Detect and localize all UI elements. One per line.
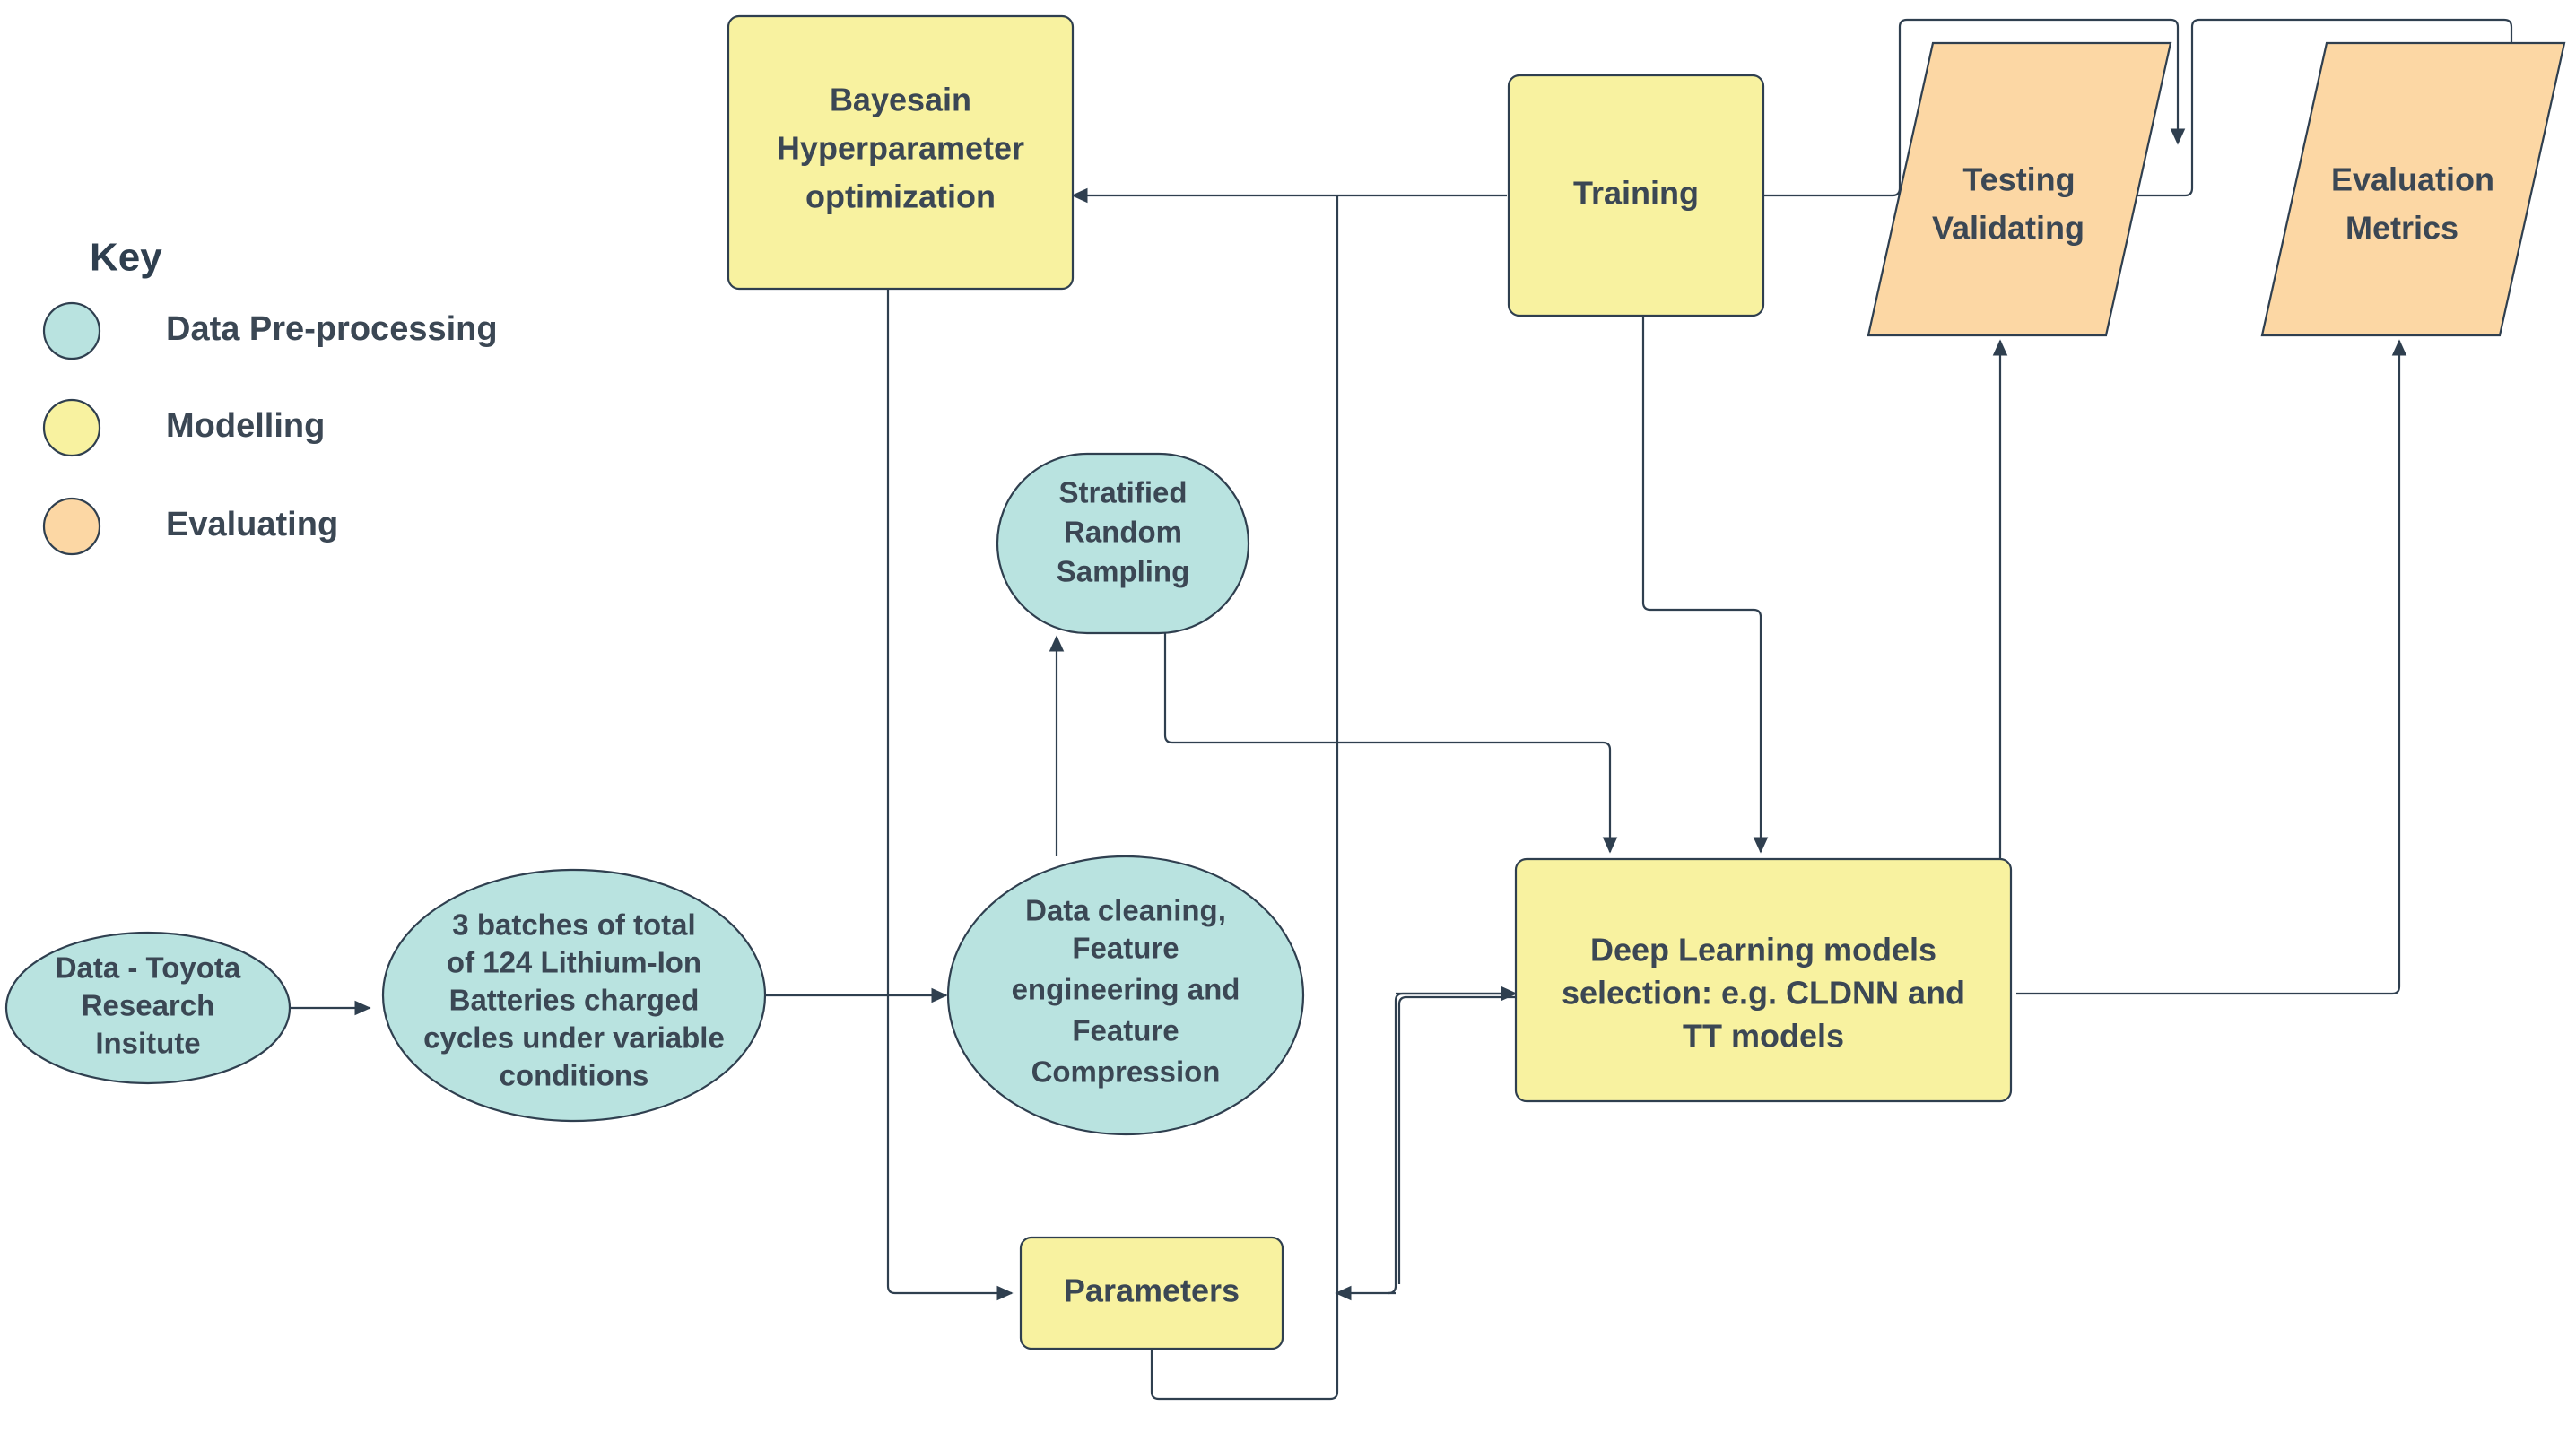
legend-label-modelling: Modelling (166, 407, 325, 445)
edge-deep-learning-back-to-parameters (1336, 994, 1525, 1293)
node-data-cleaning[interactable]: Data cleaning, Feature engineering and F… (948, 856, 1303, 1134)
node-bayesian-line-2: optimization (805, 178, 996, 215)
node-batches-line-2: Batteries charged (449, 984, 700, 1017)
node-testing-validating-line-1: Validating (1932, 210, 2084, 247)
node-data-cleaning-line-2: engineering and (1012, 973, 1240, 1006)
node-deep-learning-models[interactable]: Deep Learning models selection: e.g. CLD… (1516, 859, 2011, 1101)
node-training[interactable]: Training (1509, 75, 1763, 316)
edge-evaluation-metrics-to-parameters (1152, 195, 1337, 1399)
node-batches-line-1: of 124 Lithium-Ion (447, 946, 701, 979)
node-data-source-line-0: Data - Toyota (56, 951, 241, 985)
node-bayesian-line-0: Bayesain (830, 82, 971, 118)
node-stratified-sampling-line-1: Random (1064, 516, 1182, 549)
node-data-cleaning-line-3: Feature (1072, 1014, 1179, 1047)
node-testing-validating[interactable]: Testing Validating (1868, 43, 2171, 335)
node-batches-line-4: conditions (500, 1059, 649, 1092)
node-parameters-label: Parameters (1064, 1272, 1240, 1309)
edge-deep-learning-to-evaluation-metrics (2016, 341, 2399, 994)
node-deep-learning-line-0: Deep Learning models (1590, 932, 1936, 968)
node-data-cleaning-line-0: Data cleaning, (1025, 894, 1226, 927)
flowchart-canvas: Data - Toyota Research Insitute 3 batche… (0, 0, 2576, 1433)
flowchart-svg: Data - Toyota Research Insitute 3 batche… (0, 0, 2576, 1433)
edge-layer (289, 20, 2511, 1399)
node-deep-learning-line-2: TT models (1683, 1018, 1844, 1055)
node-bayesian-line-1: Hyperparameter (777, 130, 1024, 167)
node-stratified-sampling[interactable]: Stratified Random Sampling (997, 454, 1249, 633)
edge-stratified-sampling-to-deep-learning (1165, 592, 1610, 852)
node-data-source-line-1: Research (82, 989, 215, 1022)
node-evaluation-metrics[interactable]: Evaluation Metrics (2262, 43, 2564, 335)
node-evaluation-metrics-line-1: Metrics (2345, 210, 2459, 247)
node-testing-validating-line-0: Testing (1962, 161, 2075, 198)
legend-swatch-evaluating (44, 499, 100, 554)
node-data-source[interactable]: Data - Toyota Research Insitute (6, 933, 290, 1083)
node-evaluation-metrics-line-0: Evaluation (2331, 161, 2494, 198)
node-deep-learning-line-1: selection: e.g. CLDNN and (1562, 975, 1965, 1012)
node-batches[interactable]: 3 batches of total of 124 Lithium-Ion Ba… (383, 870, 765, 1121)
node-parameters[interactable]: Parameters (1021, 1238, 1283, 1349)
legend-label-data-pre-processing: Data Pre-processing (166, 310, 498, 348)
edge-training-to-deep-learning (1643, 316, 1761, 852)
legend-title: Key (90, 236, 162, 280)
legend-swatch-data-pre-processing (44, 303, 100, 359)
node-training-label: Training (1573, 175, 1699, 212)
legend-label-evaluating: Evaluating (166, 506, 338, 543)
node-stratified-sampling-line-0: Stratified (1058, 476, 1187, 509)
node-data-source-line-2: Insitute (95, 1027, 200, 1060)
node-stratified-sampling-line-2: Sampling (1057, 555, 1190, 588)
node-batches-line-0: 3 batches of total (452, 908, 695, 942)
node-batches-line-3: cycles under variable (423, 1021, 725, 1055)
legend: Key Data Pre-processing Modelling Evalua… (44, 236, 498, 554)
edge-bayesian-optimization-to-parameters (888, 289, 1012, 1293)
node-data-cleaning-line-4: Compression (1031, 1055, 1221, 1089)
edge-parameters-into-deep-learning (1399, 997, 1519, 1284)
edge-parameters-to-deep-learning (1388, 994, 1532, 1293)
node-data-cleaning-line-1: Feature (1072, 932, 1179, 965)
node-bayesian-optimization[interactable]: Bayesain Hyperparameter optimization (728, 16, 1073, 289)
legend-swatch-modelling (44, 400, 100, 456)
